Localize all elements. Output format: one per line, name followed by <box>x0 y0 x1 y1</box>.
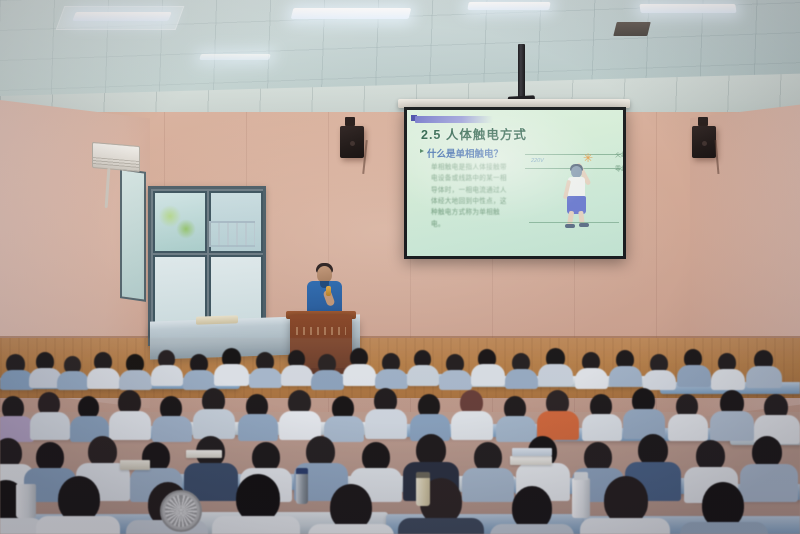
student-body <box>281 365 313 386</box>
student-body <box>324 416 364 442</box>
student-body <box>109 411 151 440</box>
student-body <box>643 370 676 390</box>
student-body-foreground <box>680 522 768 534</box>
slide-decoration-bar <box>415 116 493 123</box>
student-body <box>582 414 622 441</box>
portable-fan <box>160 490 202 532</box>
thermos-cap <box>296 468 308 474</box>
speaker-right-icon <box>692 126 716 158</box>
water-bottle <box>16 484 36 518</box>
ceiling-light-1 <box>72 12 172 21</box>
ceiling-light-3 <box>467 2 550 10</box>
slide-title: 2.5 人体触电方式 <box>421 124 527 143</box>
student-body <box>496 416 536 442</box>
side-window <box>120 168 146 302</box>
figure-person-shoe-right <box>579 223 589 227</box>
student-body <box>119 370 152 390</box>
speaker-left-icon <box>340 126 364 158</box>
student-body <box>740 464 798 502</box>
window-pane-upper-left <box>153 191 207 253</box>
slide-body-text: 单相触电是指人体接触带电设备或线路中的某一相导体时，一相电流通过人体经大地回到中… <box>431 162 513 230</box>
student-body <box>214 364 249 386</box>
student-body <box>343 364 376 386</box>
ceiling-light-5 <box>199 54 271 60</box>
projection-screen: 2.5 人体触电方式 什么是单相触电？ 单相触电是指人体接触带电设备或线路中的某… <box>404 107 626 259</box>
figure-live-wire-line <box>525 154 621 155</box>
figure-voltage-label: 220V <box>531 158 544 164</box>
student-body <box>746 366 782 388</box>
snack-jar-cap <box>416 472 430 478</box>
student-body <box>30 412 70 440</box>
ac-vent-louvers <box>93 157 139 168</box>
window-pane-upper-right <box>209 191 263 253</box>
student-body-foreground <box>580 518 670 534</box>
speaker-bracket-left <box>345 117 355 126</box>
student-body <box>311 370 344 390</box>
snack-jar <box>416 476 430 506</box>
student-body <box>451 411 493 440</box>
student-body <box>238 414 278 441</box>
student-body <box>711 369 745 390</box>
slide-bullet-icon <box>420 149 424 153</box>
student-body <box>183 370 216 390</box>
air-conditioner-unit <box>92 142 140 172</box>
student-body <box>505 369 538 389</box>
student-body <box>710 411 754 441</box>
student-body <box>609 366 642 387</box>
balcony-railing <box>209 221 255 247</box>
notebook <box>120 460 150 470</box>
speaker-bracket-right <box>698 117 708 126</box>
water-bottle <box>572 478 590 518</box>
student-body <box>439 370 472 390</box>
slide-subtitle: 什么是单相触电？ <box>427 146 503 160</box>
student-body <box>151 365 183 386</box>
classroom-photo-scene: 2.5 人体触电方式 什么是单相触电？ 单相触电是指人体接触带电设备或线路中的某… <box>0 0 800 534</box>
thermos-bottle <box>296 472 308 504</box>
figure-ground-line <box>529 222 619 223</box>
audience-area <box>0 338 800 534</box>
student-body <box>575 368 608 389</box>
student-body <box>193 409 235 439</box>
student-body <box>152 416 192 442</box>
student-body <box>365 409 407 439</box>
microphone-icon <box>326 286 331 296</box>
slide-figure: 220V 火线 零线 ✳ <box>525 138 623 230</box>
student-head-foreground <box>604 476 648 524</box>
textbook <box>512 448 552 456</box>
student-body-foreground <box>308 524 394 534</box>
student-body-foreground <box>398 518 484 534</box>
ceiling-light-2 <box>291 8 412 19</box>
student-body-foreground <box>212 516 300 534</box>
student-body <box>279 411 321 440</box>
student-body <box>407 365 439 386</box>
textbook <box>186 450 222 458</box>
ceiling-light-4 <box>639 4 736 13</box>
figure-person-shoe-left <box>565 224 575 228</box>
figure-spark-icon: ✳ <box>583 152 601 166</box>
figure-label-live: 火线 <box>615 150 623 159</box>
student-body <box>87 368 120 389</box>
water-bottle-cap <box>574 472 588 480</box>
demo-table-items <box>196 315 238 324</box>
podium-trim <box>296 327 346 335</box>
student-body <box>249 368 282 388</box>
student-body <box>538 364 573 386</box>
student-head-foreground <box>236 474 280 522</box>
student-body <box>462 468 514 502</box>
slide-surface: 2.5 人体触电方式 什么是单相触电？ 单相触电是指人体接触带电设备或线路中的某… <box>407 110 623 256</box>
student-body <box>668 414 708 441</box>
figure-label-neutral: 零线 <box>615 164 623 173</box>
student-body <box>57 371 89 390</box>
student-body <box>677 365 711 387</box>
student-body-foreground <box>490 524 574 534</box>
student-body-foreground <box>36 516 120 534</box>
textbook <box>510 456 552 465</box>
student-body <box>471 364 505 386</box>
student-body <box>375 369 408 389</box>
ceiling-vent-icon <box>613 22 650 36</box>
projector-mount-pole <box>518 44 525 102</box>
